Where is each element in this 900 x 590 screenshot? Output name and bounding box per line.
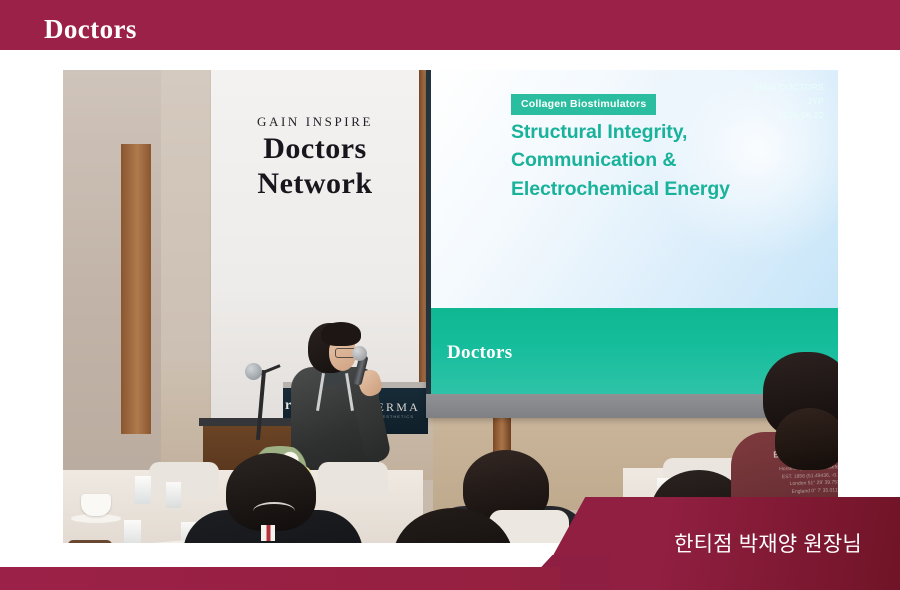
caption-banner-text: 한티점 박재양 원장님 [662, 528, 874, 558]
slide-title: Structural Integrity, Communication & El… [511, 118, 811, 203]
wood-trim-left [121, 144, 151, 434]
chair-back-b [318, 462, 388, 496]
water-glass-c [124, 520, 141, 543]
banner-brand-second-line: Network [211, 167, 419, 201]
banner-brand: Doctors [211, 132, 419, 166]
slide-badge: Collagen Biostimulators [511, 94, 656, 115]
audience-member-head-6 [775, 408, 838, 470]
jacket-text-line4: EST. 1856 (51.49436, -0.126397) [782, 471, 838, 480]
page-header: Doctors [0, 0, 900, 50]
handheld-microphone-icon [352, 346, 367, 361]
speaker-hair [321, 322, 361, 346]
presentation-slide: Collagen Biostimulators Structural Integ… [431, 70, 838, 394]
dessert-plate [68, 540, 112, 543]
audience-lanyard [253, 502, 295, 520]
audience-badge-tag [261, 525, 275, 541]
slide-meta-organization: Hanti DOCTORS [756, 80, 824, 94]
page-title: Doctors [44, 14, 137, 45]
podium-top [199, 418, 297, 426]
chair-back-a [149, 462, 219, 498]
conference-photo: GAIN INSPIRE Doctors Network GALDERMA AE… [63, 70, 838, 543]
banner-tagline: GAIN INSPIRE [211, 114, 419, 130]
slide-metadata: Hanti DOCTORS JYP 2024.06.22 [756, 80, 824, 122]
jacket-text-line5: London 51° 29' 39.7536" n [790, 479, 838, 487]
water-glass-a [135, 476, 151, 504]
podium-microphone-icon [245, 363, 262, 380]
water-glass-b [166, 482, 181, 508]
coffee-cup-a [81, 494, 111, 516]
slide-meta-presenter: JYP [756, 94, 824, 108]
slide-logo: Doctors [447, 342, 512, 364]
jacket-text-line6: England 0° 7' 35.0112" w [792, 487, 838, 495]
footer-strip [0, 567, 560, 590]
slide-meta-date: 2024.06.22 [756, 108, 824, 122]
